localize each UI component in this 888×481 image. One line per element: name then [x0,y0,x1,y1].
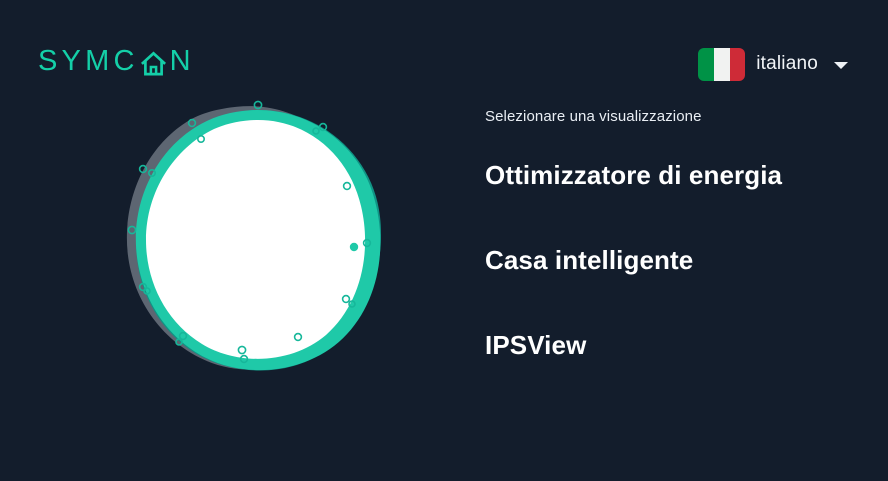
blob-ring [144,288,150,294]
blob-ring [343,296,350,303]
language-selector[interactable]: italiano [698,46,848,82]
visualization-menu: Selezionare una visualizzazione Ottimizz… [485,108,865,362]
menu-item-smart-home[interactable]: Casa intelligente [485,245,693,276]
menu-subtitle: Selezionare una visualizzazione [485,108,865,126]
blob-layer-light-teal [127,102,389,379]
blob-center [146,120,365,359]
blob-ring [241,356,248,363]
menu-item-energy-optimizer[interactable]: Ottimizzatore di energia [485,160,782,191]
blob-layer-dark-teal [121,96,395,384]
menu-item-ipsview[interactable]: IPSView [485,330,586,361]
blob-ring [140,284,147,291]
blob-graphic [118,92,398,377]
blob-ring [349,301,355,307]
blob-layer-gray [114,94,385,382]
blob-ring [364,240,371,247]
logo-text-after: N [170,47,195,76]
blob-ring [149,170,155,176]
blob-ring [295,334,302,341]
blob-ring [198,136,204,142]
blob-ring [176,339,182,345]
blob-ring-group [128,101,370,362]
blob-ring [344,183,351,190]
house-icon [140,50,167,77]
blob-ring [189,120,196,127]
language-label: italiano [756,53,818,75]
blob-ring [238,346,245,353]
blob-ring [320,124,327,131]
blob-ring [140,166,147,173]
symcon-logo[interactable]: SYMC N [38,44,195,78]
blob-ring [180,333,187,340]
logo-text-before: SYMC [38,47,139,76]
page-header: SYMC N italiano [0,0,888,110]
blob-dot [350,243,358,251]
chevron-down-icon[interactable] [834,62,848,69]
blob-ring [313,128,319,134]
blob-ring [128,226,135,233]
italy-flag-icon [698,48,745,81]
